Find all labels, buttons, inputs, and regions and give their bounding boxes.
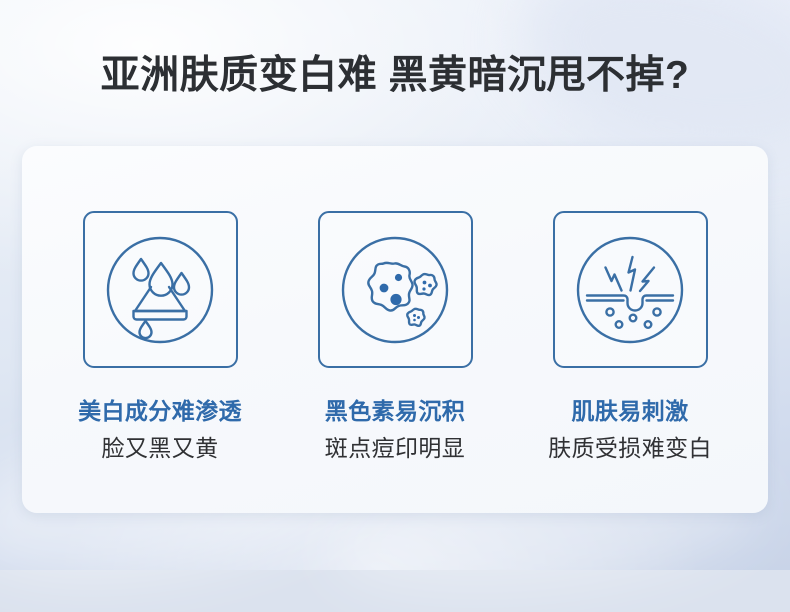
feature-title-1: 美白成分难渗透 bbox=[78, 397, 242, 425]
feature-column-3: 肌肤易刺激 肤质受损难变白 bbox=[521, 146, 739, 513]
feature-subtitle-2: 斑点痘印明显 bbox=[325, 434, 465, 462]
feature-icon-box-2 bbox=[318, 211, 473, 368]
feature-icon-box-1 bbox=[83, 211, 238, 368]
melanin-clusters-icon bbox=[330, 225, 460, 355]
page-title: 亚洲肤质变白难 黑黄暗沉甩不掉? bbox=[0, 52, 790, 100]
feature-icon-box-3 bbox=[553, 211, 708, 368]
feature-column-1: 美白成分难渗透 脸又黑又黄 bbox=[51, 146, 269, 513]
water-droplets-on-skin-barrier-icon bbox=[95, 225, 225, 355]
features-row: 美白成分难渗透 脸又黑又黄 bbox=[22, 146, 768, 513]
promo-poster: 亚洲肤质变白难 黑黄暗沉甩不掉? bbox=[0, 0, 790, 570]
feature-title-3: 肌肤易刺激 bbox=[572, 397, 689, 425]
feature-subtitle-1: 脸又黑又黄 bbox=[102, 434, 219, 462]
features-panel: 美白成分难渗透 脸又黑又黄 bbox=[22, 146, 768, 513]
feature-subtitle-3: 肤质受损难变白 bbox=[548, 434, 712, 462]
feature-column-2: 黑色素易沉积 斑点痘印明显 bbox=[286, 146, 504, 513]
skin-irritation-lightning-icon bbox=[565, 225, 695, 355]
feature-title-2: 黑色素易沉积 bbox=[325, 397, 465, 425]
